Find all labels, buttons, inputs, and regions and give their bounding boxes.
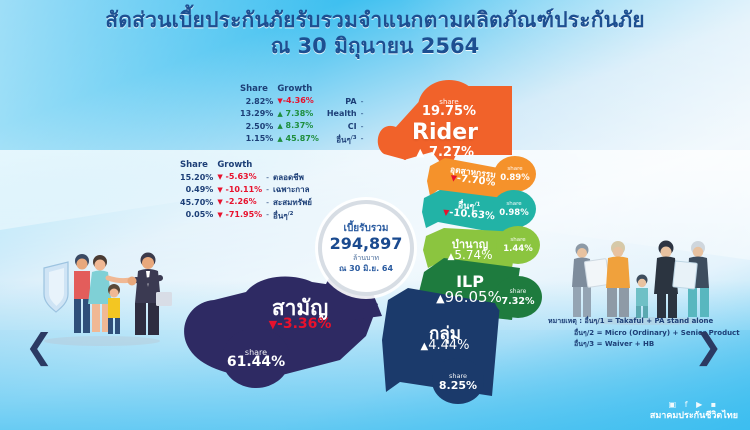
cell-share: 0.05% bbox=[178, 209, 215, 222]
social-icons[interactable]: ▣ f ▶ ▪ bbox=[650, 400, 738, 410]
person-torso bbox=[74, 271, 90, 299]
person-face bbox=[693, 247, 703, 257]
cell-label-sup: /2 bbox=[288, 211, 294, 217]
table-row: 2.50% ▲ 8.37% CI - bbox=[238, 120, 366, 132]
share-value: 1.44% bbox=[503, 244, 533, 255]
rider-breakdown-table: Share Growth 2.82% ▼-4.36% PA - 13.29% ▲… bbox=[238, 84, 366, 146]
share-caption: share bbox=[439, 98, 458, 106]
ordinary-breakdown-table: Share Growth 15.20% ▼ -5.63% - ตลอดชีพ 0… bbox=[178, 160, 314, 222]
segment-shape-rider-tail bbox=[378, 126, 406, 160]
triangle-down-icon: ▼ bbox=[217, 198, 222, 206]
share-value: 8.25% bbox=[439, 380, 477, 391]
triangle-up-icon: ▲ bbox=[277, 122, 282, 130]
cell-dash: - bbox=[359, 120, 366, 132]
footnote-text: อื่นๆ/1 = Takaful + PA stand alone bbox=[585, 317, 714, 325]
cell-label: ตลอดชีพ bbox=[271, 171, 314, 183]
share-value: 61.44% bbox=[227, 357, 285, 368]
ground-shadow bbox=[44, 336, 160, 346]
table-row: 2.82% ▼-4.36% PA - bbox=[238, 95, 366, 107]
share-value: 0.98% bbox=[499, 208, 529, 219]
total-premium-unit: ล้านบาท bbox=[353, 253, 379, 263]
person-face bbox=[638, 279, 646, 287]
person-face bbox=[577, 248, 587, 258]
share-value: 19.75% bbox=[422, 106, 476, 117]
cell-growth: ▲ 45.87% bbox=[275, 133, 321, 146]
person-legs bbox=[108, 318, 120, 334]
share-caption: share bbox=[510, 236, 525, 244]
handshake-arm bbox=[108, 278, 130, 281]
cell-dash: - bbox=[264, 171, 271, 183]
share-bubble-ilp: share 7.32% bbox=[494, 276, 542, 318]
cell-label: อื่นๆ/3 bbox=[325, 133, 359, 146]
cell-label-sup: /3 bbox=[351, 135, 357, 141]
cell-share: 0.49% bbox=[178, 184, 215, 196]
document-icon bbox=[156, 292, 172, 306]
cell-share: 2.50% bbox=[238, 120, 275, 132]
person-face bbox=[110, 289, 119, 298]
document-icon bbox=[584, 259, 609, 288]
share-caption: share bbox=[506, 200, 521, 208]
cell-share: 45.70% bbox=[178, 196, 215, 208]
table-row: 13.29% ▲ 7.38% Health - bbox=[238, 108, 366, 120]
person-legs bbox=[657, 294, 677, 318]
share-bubble-ordinary: share 61.44% bbox=[222, 328, 290, 388]
cell-growth: ▼ -5.63% bbox=[215, 171, 264, 183]
person-legs bbox=[92, 304, 110, 332]
title-line-2: ณ 30 มิถุนายน 2564 bbox=[0, 33, 750, 59]
footnote-line-1: หมายเหตุ : อื่นๆ/1 = Takaful + PA stand … bbox=[548, 316, 740, 328]
person-face bbox=[95, 260, 106, 271]
cell-label: Health bbox=[325, 108, 359, 120]
share-bubble-other: share 0.98% bbox=[492, 190, 536, 228]
triangle-up-icon: ▲ bbox=[277, 110, 282, 118]
cell-growth: ▼-4.36% bbox=[275, 95, 321, 107]
person-legs bbox=[573, 287, 591, 317]
person-torso bbox=[108, 298, 120, 318]
handshake-hands bbox=[128, 277, 137, 286]
table-row: 15.20% ▼ -5.63% - ตลอดชีพ bbox=[178, 171, 314, 183]
share-bubble-group: share 8.25% bbox=[432, 358, 484, 404]
person-legs bbox=[74, 299, 90, 333]
illustration-people-group bbox=[562, 236, 730, 326]
title-line-1: สัดส่วนเบี้ยประกันภัยรับรวมจำแนกตามผลิตภ… bbox=[0, 8, 750, 33]
table-header-row: Share Growth bbox=[178, 160, 314, 171]
triangle-down-icon: ▼ bbox=[217, 186, 222, 194]
handshake-arm bbox=[136, 278, 160, 281]
cell-dash: - bbox=[359, 95, 366, 107]
cell-label: เฉพาะกาล bbox=[271, 184, 314, 196]
brand-name: สมาคมประกันชีวิตไทย bbox=[650, 410, 738, 422]
cell-share: 1.15% bbox=[238, 133, 275, 146]
header-share: Share bbox=[178, 160, 215, 171]
cell-growth: ▼ -2.26% bbox=[215, 196, 264, 208]
cell-share: 13.29% bbox=[238, 108, 275, 120]
person-legs bbox=[688, 288, 709, 317]
share-caption: share bbox=[245, 349, 267, 357]
triangle-up-icon: ▲ bbox=[277, 135, 282, 143]
cell-dash: - bbox=[264, 209, 271, 222]
header-growth: Growth bbox=[275, 84, 325, 95]
person-torso bbox=[636, 288, 648, 306]
triangle-down-icon: ▼ bbox=[217, 173, 222, 181]
header-share: Share bbox=[238, 84, 275, 95]
table-row: 0.05% ▼ -71.95% - อื่นๆ/2 bbox=[178, 209, 314, 222]
share-bubble-rider: share 19.75% bbox=[418, 80, 480, 134]
document-icon bbox=[673, 261, 698, 289]
share-caption: share bbox=[449, 372, 467, 380]
person-face bbox=[77, 259, 88, 270]
cell-growth: ▲ 7.38% bbox=[275, 108, 321, 120]
cell-label: CI bbox=[325, 120, 359, 132]
cell-dash: - bbox=[264, 196, 271, 208]
table-row: 45.70% ▼ -2.26% - สะสมทรัพย์ bbox=[178, 196, 314, 208]
table-row: 0.49% ▼ -10.11% - เฉพาะกาล bbox=[178, 184, 314, 196]
total-premium-value: 294,897 bbox=[330, 235, 403, 253]
person-face bbox=[613, 247, 623, 257]
cell-growth: ▼ -71.95% bbox=[215, 209, 264, 222]
cell-label: อื่นๆ/2 bbox=[271, 209, 314, 222]
share-value: 0.89% bbox=[500, 173, 530, 184]
share-caption: share bbox=[510, 288, 527, 296]
cell-share: 2.82% bbox=[238, 95, 275, 107]
person-face bbox=[142, 257, 154, 269]
cell-label: สะสมทรัพย์ bbox=[271, 196, 314, 208]
carousel-prev-button[interactable]: ❮ bbox=[25, 330, 54, 364]
person-legs bbox=[135, 303, 159, 335]
share-value: 7.32% bbox=[502, 296, 535, 307]
footnote-prefix: หมายเหตุ : bbox=[548, 317, 582, 325]
page-title: สัดส่วนเบี้ยประกันภัยรับรวมจำแนกตามผลิตภ… bbox=[0, 8, 750, 59]
triangle-down-icon: ▼ bbox=[217, 211, 222, 219]
share-bubble-annuity: share 1.44% bbox=[496, 226, 540, 264]
total-premium-asof: ณ 30 มิ.ย. 64 bbox=[339, 263, 393, 275]
total-premium-circle: เบี้ยรับรวม 294,897 ล้านบาท ณ 30 มิ.ย. 6… bbox=[318, 200, 414, 296]
share-bubble-industrial: share 0.89% bbox=[494, 156, 536, 192]
cell-dash: - bbox=[359, 108, 366, 120]
brand-footer: ▣ f ▶ ▪ สมาคมประกันชีวิตไทย bbox=[650, 400, 738, 422]
carousel-next-button[interactable]: ❯ bbox=[694, 330, 723, 364]
table-header-row: Share Growth bbox=[238, 84, 366, 95]
total-premium-label: เบี้ยรับรวม bbox=[344, 222, 389, 235]
cell-label: PA bbox=[325, 95, 359, 107]
cell-dash: - bbox=[359, 133, 366, 146]
person-torso bbox=[606, 257, 630, 289]
cell-dash: - bbox=[264, 184, 271, 196]
cell-share: 15.20% bbox=[178, 171, 215, 183]
cell-growth: ▼ -10.11% bbox=[215, 184, 264, 196]
cell-growth: ▲ 8.37% bbox=[275, 120, 321, 132]
header-growth: Growth bbox=[215, 160, 264, 171]
table-row: 1.15% ▲ 45.87% อื่นๆ/3 - bbox=[238, 133, 366, 146]
share-caption: share bbox=[507, 165, 522, 173]
person-legs bbox=[607, 288, 629, 317]
person-face bbox=[661, 247, 672, 258]
